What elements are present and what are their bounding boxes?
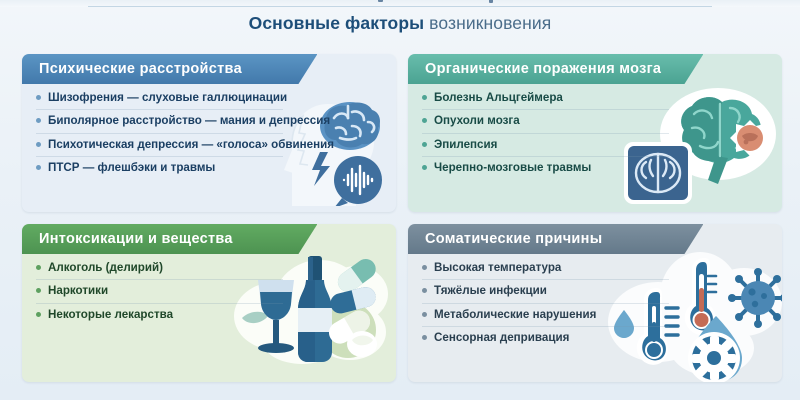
cropped-glyph	[378, 0, 383, 2]
cropped-glyph	[489, 0, 493, 3]
list-item: Болезнь Альцгеймера	[422, 87, 669, 109]
bullet-icon	[36, 118, 41, 123]
bullet-icon	[422, 95, 427, 100]
list-item: Алкоголь (делирий)	[36, 257, 283, 279]
list-item: Черепно-мозговые травмы	[422, 156, 669, 179]
list-item: Эпилепсия	[422, 133, 669, 156]
list-item-label: Психотическая депрессия — «голоса» обвин…	[48, 138, 334, 151]
list-item-label: ПТСР — флешбэки и травмы	[48, 161, 215, 174]
list-item: Сенсорная депривация	[422, 326, 669, 349]
cropped-top-strip	[0, 0, 800, 7]
list-item-label: Наркотики	[48, 284, 108, 297]
card-title-somatic-causes: Соматические причины	[408, 224, 703, 254]
bullet-icon	[36, 95, 41, 100]
list-item-label: Тяжёлые инфекции	[434, 284, 547, 297]
card-title-organic-brain-lesions: Органические поражения мозга	[408, 54, 703, 84]
card-intoxications-substances[interactable]: Интоксикации и вещества Алкоголь (делири…	[22, 224, 396, 382]
list-item: Психотическая депрессия — «голоса» обвин…	[36, 133, 283, 156]
list-item-label: Черепно-мозговые травмы	[434, 161, 591, 174]
list-item-label: Болезнь Альцгеймера	[434, 91, 563, 104]
page-title-light: возникновения	[429, 13, 551, 33]
list-item: Метаболические нарушения	[422, 303, 669, 326]
list-item-label: Биполярное расстройство — мания и депрес…	[48, 114, 330, 127]
list-item: Наркотики	[36, 279, 283, 302]
factors-grid: Психические расстройства Шизофрения — сл…	[22, 54, 782, 392]
card-list-mental-disorders: Шизофрения — слуховые галлюцинации Бипол…	[36, 87, 283, 179]
bullet-icon	[422, 335, 427, 340]
card-organic-brain-lesions[interactable]: Органические поражения мозга Болезнь Аль…	[408, 54, 782, 212]
page-title-strong: Основные факторы	[249, 13, 425, 33]
list-item: Опухоли мозга	[422, 109, 669, 132]
bullet-icon	[36, 265, 41, 270]
bullet-icon	[36, 312, 41, 317]
bullet-icon	[36, 142, 41, 147]
list-item: Высокая температура	[422, 257, 669, 279]
bullet-icon	[422, 165, 427, 170]
card-mental-disorders[interactable]: Психические расстройства Шизофрения — сл…	[22, 54, 396, 212]
card-list-intoxications-substances: Алкоголь (делирий) Наркотики Некоторые л…	[36, 257, 283, 326]
card-list-organic-brain-lesions: Болезнь Альцгеймера Опухоли мозга Эпилеп…	[422, 87, 669, 179]
card-title-intoxications-substances: Интоксикации и вещества	[22, 224, 317, 254]
bullet-icon	[422, 312, 427, 317]
list-item: Тяжёлые инфекции	[422, 279, 669, 302]
list-item: Некоторые лекарства	[36, 303, 283, 326]
card-somatic-causes[interactable]: Соматические причины Высокая температура…	[408, 224, 782, 382]
bullet-icon	[422, 118, 427, 123]
list-item-label: Метаболические нарушения	[434, 308, 596, 321]
list-item-label: Сенсорная депривация	[434, 331, 569, 344]
bullet-icon	[422, 288, 427, 293]
list-item-label: Опухоли мозга	[434, 114, 520, 127]
list-item-label: Шизофрения — слуховые галлюцинации	[48, 91, 287, 104]
bullet-icon	[422, 265, 427, 270]
page-title: Основные факторы возникновения	[0, 13, 800, 34]
bullet-icon	[36, 288, 41, 293]
list-item-label: Высокая температура	[434, 261, 561, 274]
list-item-label: Эпилепсия	[434, 138, 497, 151]
card-title-mental-disorders: Психические расстройства	[22, 54, 317, 84]
card-list-somatic-causes: Высокая температура Тяжёлые инфекции Мет…	[422, 257, 669, 349]
bullet-icon	[36, 165, 41, 170]
list-item: Биполярное расстройство — мания и депрес…	[36, 109, 283, 132]
list-item-label: Алкоголь (делирий)	[48, 261, 163, 274]
list-item-label: Некоторые лекарства	[48, 308, 173, 321]
bullet-icon	[422, 142, 427, 147]
list-item: ПТСР — флешбэки и травмы	[36, 156, 283, 179]
list-item: Шизофрения — слуховые галлюцинации	[36, 87, 283, 109]
divider-line	[88, 6, 712, 7]
